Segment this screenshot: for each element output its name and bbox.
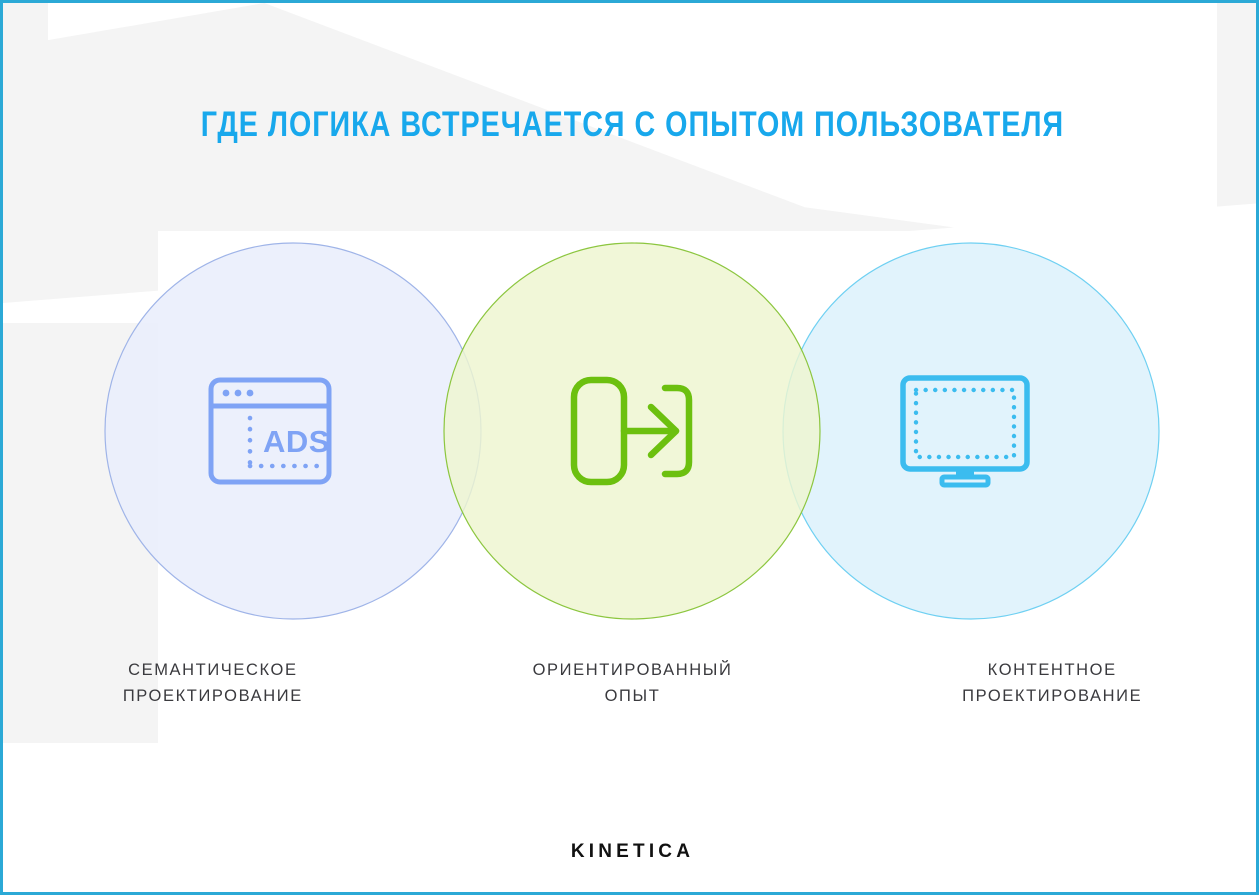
label-experience-oriented-line2: ОПЫТ xyxy=(423,684,843,710)
infographic-poster: ГДЕ ЛОГИКА ВСТРЕЧАЕТСЯ С ОПЫТОМ ПОЛЬЗОВА… xyxy=(0,0,1259,895)
venn-circle-experience xyxy=(444,243,820,619)
label-experience-oriented: ОРИЕНТИРОВАННЫЙ ОПЫТ xyxy=(423,658,843,709)
page-title: ГДЕ ЛОГИКА ВСТРЕЧАЕТСЯ С ОПЫТОМ ПОЛЬЗОВА… xyxy=(116,105,1148,145)
venn-circle-semantic xyxy=(105,243,481,619)
label-content-design-line2: ПРОЕКТИРОВАНИЕ xyxy=(842,684,1259,710)
venn-diagram xyxy=(3,231,1259,651)
label-content-design: КОНТЕНТНОЕ ПРОЕКТИРОВАНИЕ xyxy=(842,658,1259,709)
brand-logo: KINETICA xyxy=(3,841,1259,863)
label-content-design-line1: КОНТЕНТНОЕ xyxy=(842,658,1259,684)
category-labels: СЕМАНТИЧЕСКОЕ ПРОЕКТИРОВАНИЕ ОРИЕНТИРОВА… xyxy=(3,658,1259,709)
label-semantic-design: СЕМАНТИЧЕСКОЕ ПРОЕКТИРОВАНИЕ xyxy=(3,658,423,709)
label-semantic-design-line1: СЕМАНТИЧЕСКОЕ xyxy=(3,658,423,684)
venn-circle-content xyxy=(783,243,1159,619)
label-semantic-design-line2: ПРОЕКТИРОВАНИЕ xyxy=(3,684,423,710)
background-white-footer xyxy=(3,743,1259,895)
label-experience-oriented-line1: ОРИЕНТИРОВАННЫЙ xyxy=(423,658,843,684)
